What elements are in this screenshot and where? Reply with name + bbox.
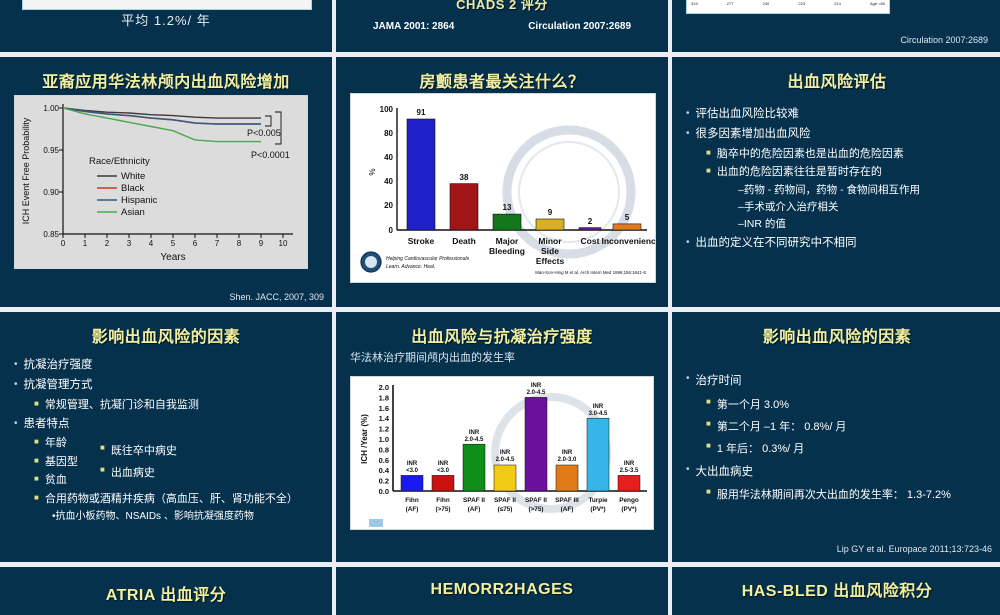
svg-text:9: 9 xyxy=(548,208,553,217)
bullet-square-icon: ■ xyxy=(34,491,39,508)
bullet-item: • 患者特点 xyxy=(14,416,322,434)
svg-text:2.0-4.5: 2.0-4.5 xyxy=(465,437,484,443)
bullet-text: 出血的定义在不同研究中不相同 xyxy=(696,235,857,253)
bullet-item: • 出血的定义在不同研究中不相同 xyxy=(686,235,992,253)
bullet-text: 很多因素增加出血风险 xyxy=(696,126,811,144)
bullet-text: 服用华法林期间再次大出血的发生率： 1.3-7.2% xyxy=(717,485,951,506)
svg-text:8: 8 xyxy=(237,239,242,248)
svg-text:<3.0: <3.0 xyxy=(437,468,450,474)
svg-text:<3.0: <3.0 xyxy=(406,468,419,474)
slide-r3c1-title: HEMORR2HAGES xyxy=(336,567,668,599)
svg-text:(≤75): (≤75) xyxy=(498,506,513,513)
bullet-item: ■ 第一个月 3.0% xyxy=(706,395,992,416)
slide-r1c1-title: 房颤患者最关注什么？ xyxy=(336,57,668,92)
bullet-text: 常规管理、抗凝门诊和自我监测 xyxy=(45,397,199,414)
bullet-text: 1 年后： 0.3%/ 月 xyxy=(717,439,804,460)
svg-text:0: 0 xyxy=(389,226,394,235)
bullet-dot-icon: • xyxy=(686,235,690,253)
svg-text:1.2: 1.2 xyxy=(379,425,389,434)
svg-text:(AF): (AF) xyxy=(468,506,481,513)
bullet-text: 出血的危险因素往往是暂时存在的 xyxy=(717,164,882,181)
slide-r1c0-citation: Shen. JACC, 2007, 309 xyxy=(229,292,324,302)
svg-text:38: 38 xyxy=(460,173,469,182)
mini-table-cell: 319 xyxy=(691,1,698,6)
svg-text:Major: Major xyxy=(496,236,519,246)
bullet-square-icon: ■ xyxy=(706,485,711,506)
svg-text:Man-Son-Hing M et al. Arch Int: Man-Son-Hing M et al. Arch Intern Med 19… xyxy=(535,270,647,275)
svg-text:Learn. Advance. Heal.: Learn. Advance. Heal. xyxy=(386,264,435,270)
bullet-item: ■ 基因型 xyxy=(34,454,322,471)
slide-thumbnail-r2c0[interactable]: 影响出血风险的因素 • 抗凝治疗强度 • 抗凝管理方式 ■ 常规管理、抗凝门诊和… xyxy=(0,312,332,562)
svg-text:Inconvenience: Inconvenience xyxy=(601,236,655,246)
slide-r2c1-subtitle: 华法林治疗期间颅内出血的发生率 xyxy=(336,347,668,365)
bullet-item: ■ 既往卒中病史 xyxy=(100,441,177,462)
slide-grid: 平均 1.2%/ 年 CHADS 2 评分 JAMA 2001: 2864 Ci… xyxy=(0,0,1000,600)
svg-text:Years: Years xyxy=(160,252,185,263)
slide-r0c1-title: CHADS 2 评分 xyxy=(336,0,668,13)
svg-text:7: 7 xyxy=(215,239,220,248)
svg-text:2.5-3.5: 2.5-3.5 xyxy=(620,468,639,474)
svg-text:4: 4 xyxy=(149,239,154,248)
svg-text:10: 10 xyxy=(279,239,288,248)
svg-text:Death: Death xyxy=(452,236,476,246)
svg-text:ICH /Year (%): ICH /Year (%) xyxy=(360,414,369,464)
svg-text:Helping Cardiovascular Profess: Helping Cardiovascular Professionals xyxy=(386,256,470,262)
svg-text:80: 80 xyxy=(384,129,393,138)
slide-r3c2-title: HAS-BLED 出血风险积分 xyxy=(672,567,1000,601)
bullet-square-icon: ■ xyxy=(706,439,711,460)
bullet-text: –手术或介入治疗相关 xyxy=(738,199,992,215)
svg-text:Side: Side xyxy=(541,246,559,256)
slide-r2c2-citation: Lip GY et al. Europace 2011;13:723-46 xyxy=(837,544,992,554)
svg-text:2: 2 xyxy=(588,217,593,226)
slide-thumbnail-r0c1[interactable]: CHADS 2 评分 JAMA 2001: 2864 Circulation 2… xyxy=(336,0,668,52)
slide-r2c0-bullets: • 抗凝治疗强度 • 抗凝管理方式 ■ 常规管理、抗凝门诊和自我监测 • 患者特… xyxy=(0,347,332,524)
bullet-square-icon: ■ xyxy=(34,454,39,471)
bullet-text: 合用药物或酒精并疾病（高血压、肝、肾功能不全） xyxy=(45,491,298,508)
svg-text:Fihn: Fihn xyxy=(405,497,419,504)
bullet-square-icon: ■ xyxy=(706,417,711,438)
svg-text:P<0.005: P<0.005 xyxy=(247,128,281,138)
mini-table-cell: 223 xyxy=(798,1,805,6)
svg-text:(>75): (>75) xyxy=(528,506,543,513)
svg-text:1.00: 1.00 xyxy=(43,104,59,113)
svg-text:(>75): (>75) xyxy=(435,506,450,513)
svg-text:Stroke: Stroke xyxy=(408,236,435,246)
svg-text:INR: INR xyxy=(500,450,511,456)
svg-text:0.2: 0.2 xyxy=(379,477,389,486)
svg-text:Minor: Minor xyxy=(538,236,562,246)
svg-text:SPAF II: SPAF II xyxy=(525,497,547,504)
bullet-text: 第二个月 –1 年： 0.8%/ 月 xyxy=(717,417,847,438)
bullet-text: 评估出血风险比较难 xyxy=(696,106,800,124)
km-curve-svg: 0.85 0.90 0.95 1.00 0 1 2 3 4 xyxy=(15,96,307,268)
svg-text:1: 1 xyxy=(83,239,88,248)
bullet-dot-icon: • xyxy=(686,462,690,484)
svg-text:2: 2 xyxy=(105,239,110,248)
svg-text:(AF): (AF) xyxy=(561,506,574,513)
svg-text:%: % xyxy=(368,168,377,175)
svg-text:Race/Ethnicity: Race/Ethnicity xyxy=(89,156,150,167)
slide-r2c2-bullets: • 治疗时间 ■ 第一个月 3.0% ■ 第二个月 –1 年： 0.8%/ 月 … xyxy=(672,347,1000,506)
svg-text:Pengo: Pengo xyxy=(619,497,639,504)
svg-text:0.85: 0.85 xyxy=(43,230,59,239)
slide-r2c0-title: 影响出血风险的因素 xyxy=(0,312,332,347)
svg-text:INR: INR xyxy=(562,450,573,456)
bullet-square-icon: ■ xyxy=(100,463,105,484)
mini-table-cell: 214 xyxy=(834,1,841,6)
slide-thumbnail-r2c1[interactable]: 出血风险与抗凝治疗强度 华法林治疗期间颅内出血的发生率 2.0 1.8 1.6 … xyxy=(336,312,668,562)
svg-text:Cost: Cost xyxy=(581,236,600,246)
slide-r0c2-citation: Circulation 2007:2689 xyxy=(900,35,988,45)
svg-text:(AF): (AF) xyxy=(406,506,419,513)
slide-r1c0-title: 亚裔应用华法林颅内出血风险增加 xyxy=(0,57,332,92)
slide-r2c2-title: 影响出血风险的因素 xyxy=(672,312,1000,347)
bullet-item: • 抗凝治疗强度 xyxy=(14,357,322,375)
slide-thumbnail-r1c2[interactable]: 出血风险评估 • 评估出血风险比较难 • 很多因素增加出血风险 ■ 脑卒中的危险… xyxy=(672,57,1000,307)
bullet-text: 既往卒中病史 xyxy=(111,441,177,462)
bullet-item: ■ 合用药物或酒精并疾病（高血压、肝、肾功能不全） xyxy=(34,491,322,508)
bullet-text: 第一个月 3.0% xyxy=(717,395,789,416)
bullet-square-icon: ■ xyxy=(706,395,711,416)
bullet-item: ■ 第二个月 –1 年： 0.8%/ 月 xyxy=(706,417,992,438)
bullet-dot-icon: • xyxy=(686,106,690,124)
slide-thumbnail-r3c2[interactable]: HAS-BLED 出血风险积分 xyxy=(672,567,1000,615)
bullet-text: 出血病史 xyxy=(111,463,155,484)
slide-thumbnail-r0c2[interactable]: 319 277 240 223 214 Age <80 Circulation … xyxy=(672,0,1000,52)
slide-thumbnail-r3c0[interactable]: ATRIA 出血评分 xyxy=(0,567,332,615)
svg-text:ICH Event Free Probability: ICH Event Free Probability xyxy=(21,117,31,224)
bullet-dot-icon: • xyxy=(686,371,690,393)
svg-text:0.0: 0.0 xyxy=(379,487,389,496)
svg-text:13: 13 xyxy=(503,203,512,212)
bullet-text: –INR 的值 xyxy=(738,216,992,232)
svg-text:91: 91 xyxy=(417,108,426,117)
bullet-dot-icon: • xyxy=(14,416,18,434)
svg-text:SPAF III: SPAF III xyxy=(555,497,579,504)
slide-thumbnail-r1c0[interactable]: 亚裔应用华法林颅内出血风险增加 0.85 0.90 0.95 1.00 xyxy=(0,57,332,307)
svg-text:SPAF II: SPAF II xyxy=(463,497,485,504)
svg-text:Hispanic: Hispanic xyxy=(121,195,158,206)
bullet-item: • 评估出血风险比较难 xyxy=(686,106,992,124)
svg-text:1.8: 1.8 xyxy=(379,393,389,402)
mini-table-cell: 277 xyxy=(727,1,734,6)
mini-table-partial xyxy=(22,0,312,10)
svg-text:0.95: 0.95 xyxy=(43,146,59,155)
bullet-item: ■ 1 年后： 0.3%/ 月 xyxy=(706,439,992,460)
bullet-item: ■ 出血病史 xyxy=(100,463,177,484)
patient-concerns-chart: 100 80 40 40 20 0 % 91 38 xyxy=(350,93,656,283)
slide-r2c0-overlay-bullets: ■ 既往卒中病史 ■ 出血病史 xyxy=(100,440,177,485)
km-curve-chart: 0.85 0.90 0.95 1.00 0 1 2 3 4 xyxy=(14,95,308,269)
bullet-text: –药物 - 药物间，药物 - 食物间相互作用 xyxy=(738,182,992,198)
svg-text:1.0: 1.0 xyxy=(379,435,389,444)
svg-text:9: 9 xyxy=(259,239,264,248)
svg-text:(PV*): (PV*) xyxy=(621,506,636,513)
bullet-text: 年龄 xyxy=(45,435,67,452)
svg-text:3.0-4.5: 3.0-4.5 xyxy=(589,411,608,417)
svg-text:White: White xyxy=(121,171,145,182)
svg-text:INR: INR xyxy=(438,461,449,467)
slide-thumbnail-r3c1[interactable]: HEMORR2HAGES xyxy=(336,567,668,615)
bullet-item: • 大出血病史 xyxy=(686,462,992,484)
bullet-text: 脑卒中的危险因素也是出血的危险因素 xyxy=(717,146,904,163)
bullet-item: • 很多因素增加出血风险 xyxy=(686,126,992,144)
svg-text:6: 6 xyxy=(193,239,198,248)
patient-concerns-svg: 100 80 40 40 20 0 % 91 38 xyxy=(351,94,655,282)
svg-text:0: 0 xyxy=(61,239,66,248)
svg-text:1.6: 1.6 xyxy=(379,404,389,413)
slide-thumbnail-r2c2[interactable]: 影响出血风险的因素 • 治疗时间 ■ 第一个月 3.0% ■ 第二个月 –1 年… xyxy=(672,312,1000,562)
svg-text:Bleeding: Bleeding xyxy=(489,246,525,256)
bullet-dot-icon: • xyxy=(686,126,690,144)
bullet-item: ■ 年龄 xyxy=(34,435,322,452)
mini-table-numbers: 319 277 240 223 214 Age <80 xyxy=(686,0,890,14)
bullet-dot-icon: • xyxy=(14,377,18,395)
slide-thumbnail-r1c1[interactable]: 房颤患者最关注什么？ 100 80 40 40 20 0 % xyxy=(336,57,668,307)
bullet-item: • 治疗时间 xyxy=(686,371,992,393)
mini-table-cell: 240 xyxy=(763,1,770,6)
svg-text:Turpie: Turpie xyxy=(588,497,607,504)
bullet-item: ■ 脑卒中的危险因素也是出血的危险因素 xyxy=(706,146,992,163)
mini-table-cell: Age <80 xyxy=(870,1,885,6)
svg-text:INR: INR xyxy=(469,430,480,436)
bullet-square-icon: ■ xyxy=(706,146,711,163)
slide-r1c2-title: 出血风险评估 xyxy=(672,57,1000,92)
bullet-item: ■ 出血的危险因素往往是暂时存在的 xyxy=(706,164,992,181)
bullet-text: •抗血小板药物、NSAIDs 、影响抗凝强度药物 xyxy=(52,509,322,525)
svg-text:Fihn: Fihn xyxy=(436,497,450,504)
svg-text:5: 5 xyxy=(171,239,176,248)
svg-text:40: 40 xyxy=(384,153,393,162)
bullet-item: ■ 常规管理、抗凝门诊和自我监测 xyxy=(34,397,322,414)
svg-text:2.0-4.5: 2.0-4.5 xyxy=(527,390,546,396)
svg-text:3: 3 xyxy=(127,239,132,248)
svg-text:0.8: 0.8 xyxy=(379,445,389,454)
svg-text:40: 40 xyxy=(384,177,393,186)
svg-text:INR: INR xyxy=(624,461,635,467)
slide-r1c2-bullets: • 评估出血风险比较难 • 很多因素增加出血风险 ■ 脑卒中的危险因素也是出血的… xyxy=(672,92,1000,252)
bullet-item: ■ 贫血 xyxy=(34,472,322,489)
bullet-item: ■ 服用华法林期间再次大出血的发生率： 1.3-7.2% xyxy=(706,485,992,506)
svg-text:(PV*): (PV*) xyxy=(590,506,605,513)
ich-by-inr-chart: 2.0 1.8 1.6 1.4 1.2 1.0 0.8 0.6 0.4 0.2 … xyxy=(350,376,654,530)
svg-text:0.6: 0.6 xyxy=(379,456,389,465)
bullet-text: 贫血 xyxy=(45,472,67,489)
bullet-square-icon: ■ xyxy=(34,397,39,414)
svg-text:2.0-4.5: 2.0-4.5 xyxy=(496,457,515,463)
slide-r3c0-title: ATRIA 出血评分 xyxy=(0,567,332,605)
bullet-square-icon: ■ xyxy=(34,435,39,452)
svg-text:2.0-3.0: 2.0-3.0 xyxy=(558,457,577,463)
slide-r2c1-title: 出血风险与抗凝治疗强度 xyxy=(336,312,668,347)
svg-text:0.90: 0.90 xyxy=(43,188,59,197)
svg-text:INR: INR xyxy=(407,461,418,467)
slide-r0c1-citation-2: Circulation 2007:2689 xyxy=(528,21,631,32)
slide-r0c1-citation-1: JAMA 2001: 2864 xyxy=(373,21,454,32)
bullet-square-icon: ■ xyxy=(100,441,105,462)
svg-text:5: 5 xyxy=(625,213,630,222)
bullet-text: 治疗时间 xyxy=(696,371,742,393)
svg-text:INR: INR xyxy=(531,383,542,389)
svg-text:P<0.0001: P<0.0001 xyxy=(251,150,290,160)
svg-text:Black: Black xyxy=(121,183,144,194)
svg-text:Effects: Effects xyxy=(536,256,565,266)
slide-thumbnail-r0c0[interactable]: 平均 1.2%/ 年 xyxy=(0,0,332,52)
bullet-dot-icon: • xyxy=(14,357,18,375)
svg-text:0.4: 0.4 xyxy=(379,466,390,475)
bullet-text: 基因型 xyxy=(45,454,78,471)
bullet-square-icon: ■ xyxy=(706,164,711,181)
bullet-text: 抗凝治疗强度 xyxy=(24,357,93,375)
svg-text:1.4: 1.4 xyxy=(379,414,390,423)
bullet-text: 大出血病史 xyxy=(696,462,754,484)
svg-text:Asian: Asian xyxy=(121,207,145,218)
svg-text:2.0: 2.0 xyxy=(379,383,389,392)
svg-text:SPAF II: SPAF II xyxy=(494,497,516,504)
svg-text:INR: INR xyxy=(593,404,604,410)
ich-by-inr-svg: 2.0 1.8 1.6 1.4 1.2 1.0 0.8 0.6 0.4 0.2 … xyxy=(351,377,653,529)
bullet-item: • 抗凝管理方式 xyxy=(14,377,322,395)
svg-text:20: 20 xyxy=(384,201,393,210)
svg-text:100: 100 xyxy=(380,105,394,114)
bullet-square-icon: ■ xyxy=(34,472,39,489)
bullet-text: 抗凝管理方式 xyxy=(24,377,93,395)
bullet-text: 患者特点 xyxy=(24,416,70,434)
